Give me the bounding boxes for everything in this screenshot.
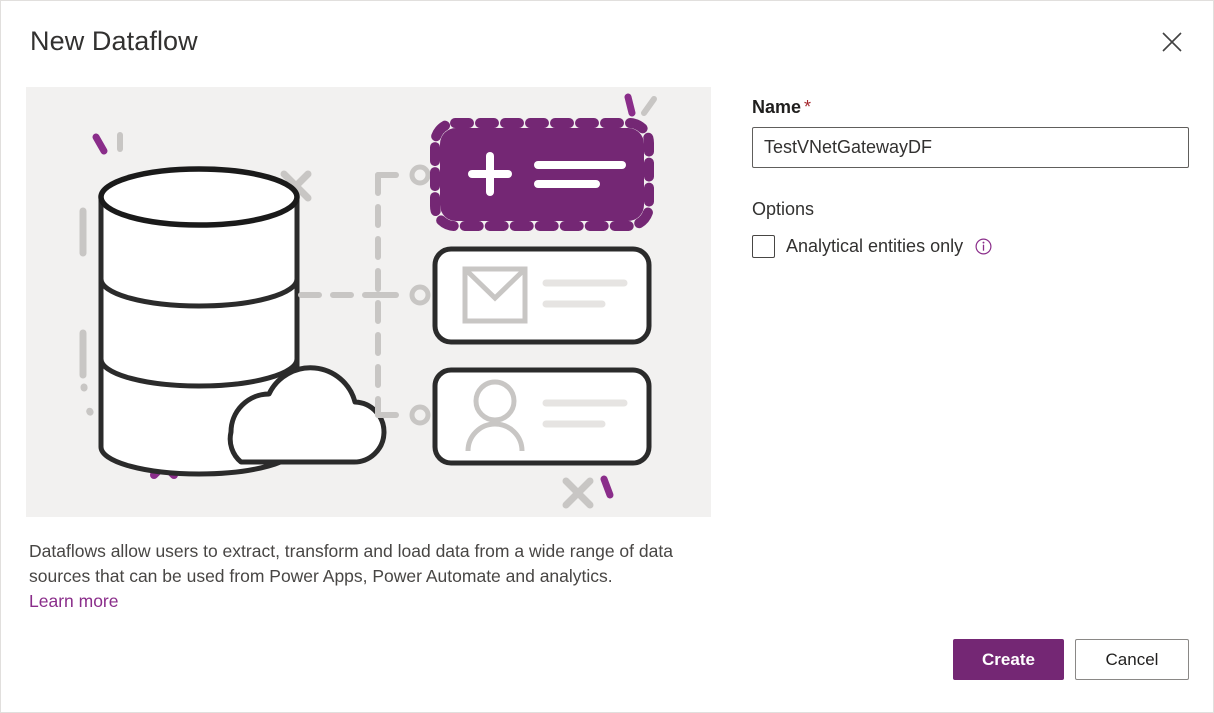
analytical-entities-only-checkbox-row[interactable]: Analytical entities only xyxy=(752,235,992,258)
analytical-entities-only-checkbox[interactable] xyxy=(752,235,775,258)
name-label-text: Name xyxy=(752,97,801,117)
name-field-label: Name* xyxy=(752,97,811,118)
dialog-description: Dataflows allow users to extract, transf… xyxy=(29,539,697,614)
required-marker: * xyxy=(804,97,811,117)
decor-marks-bottom xyxy=(566,479,610,505)
close-button[interactable] xyxy=(1149,19,1195,65)
info-icon[interactable] xyxy=(975,238,992,255)
create-button[interactable]: Create xyxy=(953,639,1064,680)
person-entity-card xyxy=(435,370,649,463)
decor-marks-top-right xyxy=(628,97,654,113)
analytical-entities-only-label: Analytical entities only xyxy=(786,235,963,258)
description-text: Dataflows allow users to extract, transf… xyxy=(29,541,673,586)
new-dataflow-dialog: New Dataflow xyxy=(0,0,1214,713)
page-title: New Dataflow xyxy=(30,26,198,57)
decor-marks-top-left xyxy=(96,135,120,151)
learn-more-link[interactable]: Learn more xyxy=(29,589,119,614)
dataflow-illustration xyxy=(26,87,711,517)
cancel-button[interactable]: Cancel xyxy=(1075,639,1189,680)
email-entity-card xyxy=(435,249,649,342)
name-input[interactable] xyxy=(752,127,1189,168)
close-icon xyxy=(1161,31,1183,53)
connector-nodes xyxy=(412,167,428,423)
new-entity-card xyxy=(435,123,649,226)
options-label: Options xyxy=(752,199,814,220)
